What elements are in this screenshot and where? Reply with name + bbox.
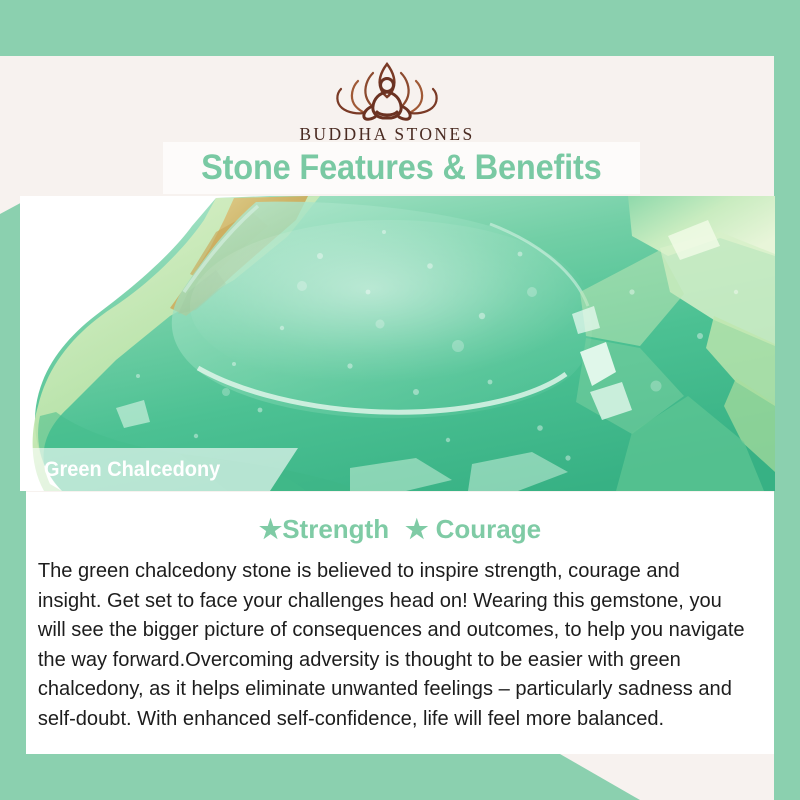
decorative-frame-right	[774, 0, 800, 800]
lotus-meditation-figure-icon	[321, 56, 453, 122]
green-chalcedony-image	[20, 196, 775, 491]
description-text: The green chalcedony stone is believed t…	[26, 545, 763, 734]
content-panel: ★Strength★ Courage The green chalcedony …	[26, 492, 774, 754]
star-icon: ★	[259, 514, 282, 544]
stone-name-label: Green Chalcedony	[44, 458, 220, 482]
decorative-frame-bottom	[0, 754, 640, 800]
star-icon: ★	[405, 514, 428, 544]
poster-canvas: BUDDHA STONES Stone Features & Benefits	[0, 0, 800, 800]
stone-photo	[20, 196, 775, 491]
keyword-courage: Courage	[436, 514, 541, 544]
keywords-row: ★Strength★ Courage	[26, 492, 774, 545]
stone-name-band: Green Chalcedony	[20, 448, 298, 491]
decorative-frame-top	[0, 0, 800, 56]
page-title: Stone Features & Benefits	[201, 148, 602, 188]
brand-logo: BUDDHA STONES	[0, 56, 774, 148]
keyword-strength: Strength	[282, 514, 389, 544]
title-banner: Stone Features & Benefits	[163, 142, 640, 194]
